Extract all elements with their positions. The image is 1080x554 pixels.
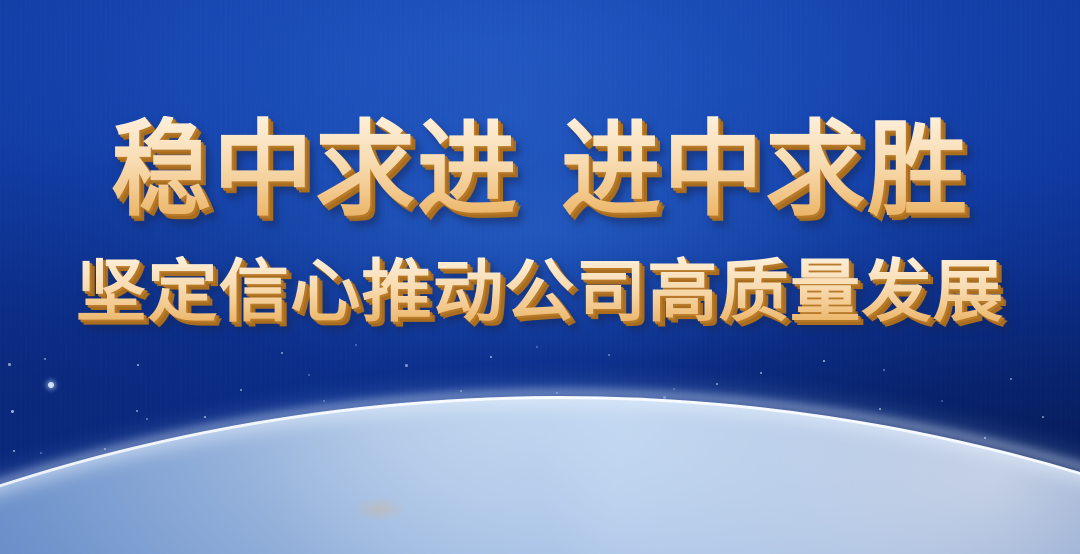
headline-part-2: 进中求胜 bbox=[561, 112, 969, 228]
poster-headline: 稳中求进进中求胜 bbox=[0, 116, 1080, 224]
headline-block: 稳中求进进中求胜 坚定信心推动公司高质量发展 bbox=[0, 118, 1080, 328]
poster-subheadline: 坚定信心推动公司高质量发展 bbox=[0, 256, 1080, 328]
poster-banner: 稳中求进进中求胜 坚定信心推动公司高质量发展 bbox=[0, 0, 1080, 554]
headline-part-1: 稳中求进 bbox=[111, 112, 519, 228]
